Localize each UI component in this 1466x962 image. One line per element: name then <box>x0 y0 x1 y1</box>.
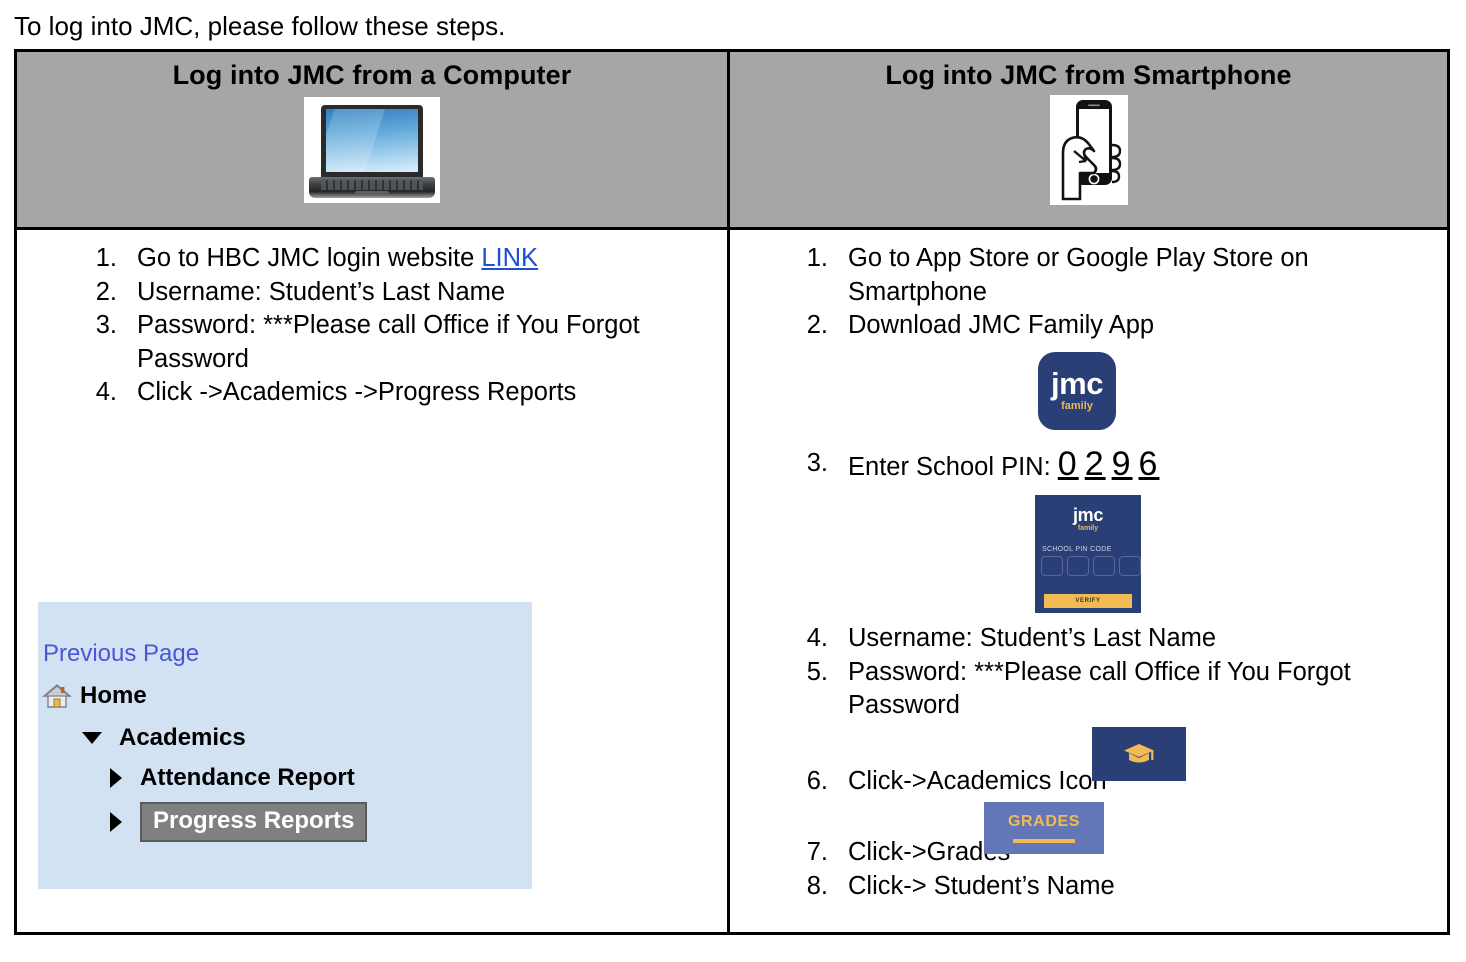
step-number: 4. <box>790 622 828 656</box>
home-icon <box>42 683 72 709</box>
hand-holding-smartphone-icon <box>1050 95 1128 205</box>
verify-button[interactable]: VERIFY <box>1044 594 1132 608</box>
nav-item-label-progress-reports[interactable]: Progress Reports <box>140 802 367 842</box>
phone-hand-svg <box>1050 95 1128 205</box>
step-text: Username: Student’s Last Name <box>848 624 1216 652</box>
step-text: Go to App Store or Google Play Store on … <box>848 244 1309 306</box>
step-text: Download JMC Family App <box>848 311 1154 339</box>
app-icon-subtitle: family <box>1061 400 1093 413</box>
step-text: Enter School PIN: <box>848 453 1058 481</box>
pin-screen-logo-subtitle: family <box>1078 524 1098 533</box>
school-pin-value: 0296 <box>1058 447 1166 481</box>
pin-digit: 6 <box>1139 445 1160 483</box>
chevron-down-icon[interactable] <box>82 732 102 744</box>
chevron-right-icon[interactable] <box>110 812 122 832</box>
intro-text: To log into JMC, please follow these ste… <box>14 10 505 42</box>
list-item: 5.Password: ***Please call Office if You… <box>790 656 1430 723</box>
step-text: Password: ***Please call Office if You F… <box>137 311 640 373</box>
step-text: Go to HBC JMC login website <box>137 244 481 272</box>
pin-input-2[interactable] <box>1067 556 1089 576</box>
step-number: 1. <box>79 242 117 276</box>
nav-item-label-home: Home <box>80 682 147 710</box>
graduation-cap-icon <box>1122 741 1156 767</box>
step-text: Password: ***Please call Office if You F… <box>848 658 1351 720</box>
laptop-lid <box>321 105 423 177</box>
step-number: 8. <box>790 870 828 904</box>
step-text: Click ->Academics ->Progress Reports <box>137 378 576 406</box>
list-item: 1.Go to App Store or Google Play Store o… <box>790 242 1430 309</box>
list-item: 3.Password: ***Please call Office if You… <box>79 309 699 376</box>
jmc-navigation-panel-screenshot: Previous Page Home Academics <box>38 602 532 889</box>
computer-steps-list: 1.Go to HBC JMC login website LINK 2.Use… <box>79 242 699 410</box>
step-number: 7. <box>790 836 828 870</box>
step-number: 3. <box>790 447 828 481</box>
instructions-table: Log into JMC from a Computer Log into JM… <box>14 49 1450 935</box>
grades-tile-underline <box>1013 839 1075 843</box>
step-number: 3. <box>79 309 117 343</box>
list-item: 3.Enter School PIN: 0296 <box>790 447 1430 485</box>
list-item: 2.Username: Student’s Last Name <box>79 276 699 310</box>
column-header-smartphone: Log into JMC from Smartphone <box>885 60 1291 91</box>
nav-item-attendance-report[interactable]: Attendance Report <box>110 764 532 792</box>
header-cell-computer: Log into JMC from a Computer <box>17 52 730 227</box>
column-header-computer: Log into JMC from a Computer <box>173 60 572 91</box>
pin-code-inputs[interactable] <box>1041 556 1141 576</box>
home-icon-svg <box>42 683 72 709</box>
step-text: Click->Academics Icon <box>848 767 1107 795</box>
cell-smartphone-instructions: 1.Go to App Store or Google Play Store o… <box>730 230 1447 932</box>
grades-tile[interactable]: GRADES <box>984 802 1104 854</box>
nav-item-academics[interactable]: Academics <box>82 724 532 752</box>
pin-screen-label: SCHOOL PIN CODE <box>1042 546 1112 553</box>
laptop-icon <box>304 97 440 203</box>
list-item: 2.Download JMC Family App <box>790 309 1430 343</box>
list-item: 7.Click->Grades <box>790 836 1430 870</box>
pin-digit: 9 <box>1112 445 1133 483</box>
step-number: 1. <box>790 242 828 276</box>
nav-item-progress-reports[interactable]: Progress Reports <box>110 802 532 842</box>
list-item: 8.Click-> Student’s Name <box>790 870 1430 904</box>
pin-input-4[interactable] <box>1119 556 1141 576</box>
previous-page-link[interactable]: Previous Page <box>43 640 532 668</box>
app-icon-tile: jmc family <box>1038 352 1116 430</box>
pin-digit: 2 <box>1085 445 1106 483</box>
grades-tile-label: GRADES <box>1008 813 1080 831</box>
laptop-screen <box>326 109 418 172</box>
step-number: 2. <box>79 276 117 310</box>
nav-item-home[interactable]: Home <box>42 682 532 710</box>
chevron-right-icon[interactable] <box>110 768 122 788</box>
table-body-row: 1.Go to HBC JMC login website LINK 2.Use… <box>17 230 1447 932</box>
academics-icon-tile[interactable] <box>1092 727 1186 781</box>
step-text: Username: Student’s Last Name <box>137 278 505 306</box>
cell-computer-instructions: 1.Go to HBC JMC login website LINK 2.Use… <box>17 230 730 932</box>
list-item: 4.Click ->Academics ->Progress Reports <box>79 376 699 410</box>
app-icon-logo-text: jmc <box>1051 370 1103 398</box>
nav-item-label-attendance-report: Attendance Report <box>140 764 355 792</box>
pin-input-1[interactable] <box>1041 556 1063 576</box>
list-item: 1.Go to HBC JMC login website LINK <box>79 242 699 276</box>
step-number: 2. <box>790 309 828 343</box>
table-header-row: Log into JMC from a Computer Log into JM… <box>17 52 1447 230</box>
nav-item-label-academics: Academics <box>119 724 246 752</box>
step-number: 5. <box>790 656 828 690</box>
pin-digit: 0 <box>1058 445 1079 483</box>
header-cell-smartphone: Log into JMC from Smartphone <box>730 52 1447 227</box>
jmc-family-app-icon: jmc family <box>1028 345 1126 437</box>
step-text: Click-> Student’s Name <box>848 872 1115 900</box>
pin-input-3[interactable] <box>1093 556 1115 576</box>
grades-tile-spacer <box>790 798 1430 836</box>
step-number: 6. <box>790 765 828 799</box>
pin-entry-screen-screenshot: jmc family SCHOOL PIN CODE VERIFY <box>1035 495 1141 613</box>
jmc-login-link[interactable]: LINK <box>481 244 538 272</box>
laptop-keyboard-base <box>309 177 435 198</box>
list-item: 4.Username: Student’s Last Name <box>790 622 1430 656</box>
pin-screen-logo: jmc <box>1073 507 1103 524</box>
step-number: 4. <box>79 376 117 410</box>
